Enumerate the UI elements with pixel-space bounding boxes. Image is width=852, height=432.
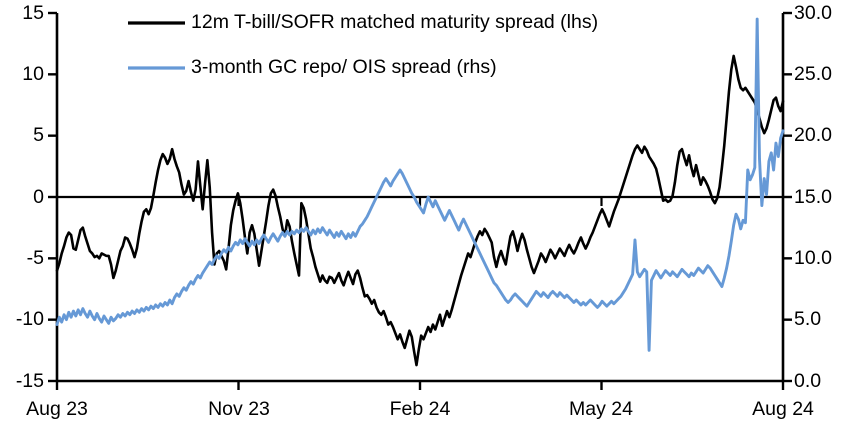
x-axis-ticks bbox=[57, 197, 783, 390]
right-axis-tick-label-5: 5.0 bbox=[794, 310, 821, 330]
left-axis-tick-label-minus5: -5 bbox=[0, 249, 44, 269]
left-axis-tick-label-15: 15 bbox=[0, 4, 44, 24]
left-axis-tick-label-5: 5 bbox=[0, 126, 44, 146]
left-axis-tick-label-10: 10 bbox=[0, 65, 44, 85]
x-axis-tick-label-aug-23: Aug 23 bbox=[7, 400, 107, 420]
left-axis-tick-label-0: 0 bbox=[0, 188, 44, 208]
x-axis-tick-label-may-24: May 24 bbox=[551, 400, 651, 420]
left-axis-tick-label-minus10: -10 bbox=[0, 310, 44, 330]
chart-container: 12m T-bill/SOFR matched maturity spread … bbox=[0, 0, 852, 432]
right-axis-tick-label-10: 10.0 bbox=[794, 249, 832, 269]
right-axis-tick-label-20: 20.0 bbox=[794, 126, 832, 146]
x-axis-tick-label-feb-24: Feb 24 bbox=[370, 400, 470, 420]
series-line-tbill-sofr-spread bbox=[57, 56, 783, 365]
left-axis-ticks bbox=[48, 13, 57, 381]
right-axis-tick-label-30: 30.0 bbox=[794, 4, 832, 24]
x-axis-tick-label-aug-24: Aug 24 bbox=[733, 400, 833, 420]
right-axis-tick-label-0: 0.0 bbox=[794, 372, 821, 392]
right-axis-tick-label-15: 15.0 bbox=[794, 188, 832, 208]
x-axis-tick-label-nov-23: Nov 23 bbox=[189, 400, 289, 420]
legend-label-gc-repo-ois-spread: 3-month GC repo/ OIS spread (rhs) bbox=[191, 58, 497, 78]
left-axis-tick-label-minus15: -15 bbox=[0, 372, 44, 392]
right-axis-tick-label-25: 25.0 bbox=[794, 65, 832, 85]
legend-label-tbill-sofr-spread: 12m T-bill/SOFR matched maturity spread … bbox=[191, 13, 598, 33]
right-axis-ticks bbox=[783, 13, 792, 381]
